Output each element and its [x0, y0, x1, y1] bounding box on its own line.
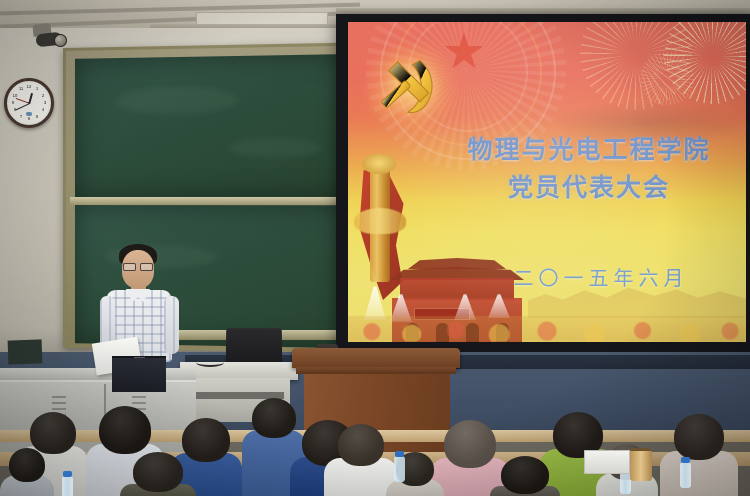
camera-lens-icon: [54, 34, 67, 47]
huabiao-wing: [354, 208, 406, 234]
audience-member-head: [133, 452, 183, 492]
audience-member-head: [99, 406, 151, 454]
projection-screen: 物理与光电工程学院 党员代表大会 二〇一五年六月: [348, 22, 746, 342]
eyeglasses-icon: [123, 263, 153, 269]
flower-beds: [348, 316, 746, 342]
slide-title-line-1: 物理与光电工程学院: [348, 130, 746, 166]
classroom-photo: 12 1 2 3 4 5 6 7 8 9 10 11: [0, 0, 750, 496]
water-bottle: [394, 456, 405, 482]
slide-title-line-2: 党员代表大会: [348, 168, 746, 204]
clock-center-pin: [28, 102, 30, 104]
paper-box: [584, 450, 630, 474]
audience-member: [660, 414, 738, 496]
lectern-top: [292, 348, 460, 368]
speaker-right-arm: [164, 296, 179, 354]
audience-member-head: [674, 414, 724, 460]
bottle-cap: [63, 471, 72, 477]
clock-minute-hand: [15, 103, 29, 111]
audience-member: [0, 448, 54, 496]
presentation-laptop: [226, 328, 282, 364]
clock-face: 12 1 2 3 4 5 6 7 8 9 10 11: [9, 83, 49, 123]
cable: [196, 358, 224, 367]
bottle-cap: [681, 457, 690, 463]
clock-brand-mark: [26, 112, 32, 116]
bottle-cap: [395, 451, 404, 457]
water-bottle: [62, 476, 73, 496]
thermos-jar: [630, 448, 652, 481]
chalkboard-panel-upper: [75, 54, 369, 197]
chalkboard-rail: [70, 197, 372, 205]
cabinet-dark-panel: [8, 339, 43, 364]
audience-member-head: [338, 424, 384, 466]
audience-member-head: [444, 420, 496, 468]
audience-member: [120, 452, 196, 496]
lectern-lip: [296, 367, 456, 374]
audience-member-head: [501, 456, 549, 494]
wall-clock: 12 1 2 3 4 5 6 7 8 9 10 11: [4, 78, 54, 128]
water-bottle: [680, 462, 691, 488]
slide-date: 二〇一五年六月: [348, 262, 746, 291]
audience-member-head: [9, 448, 45, 482]
cpc-hammer-sickle-emblem-icon: [374, 50, 448, 124]
speaker: [96, 240, 182, 390]
audience-member: [490, 456, 560, 496]
firework-icon: [640, 52, 694, 106]
speaker-trousers: [112, 358, 166, 392]
